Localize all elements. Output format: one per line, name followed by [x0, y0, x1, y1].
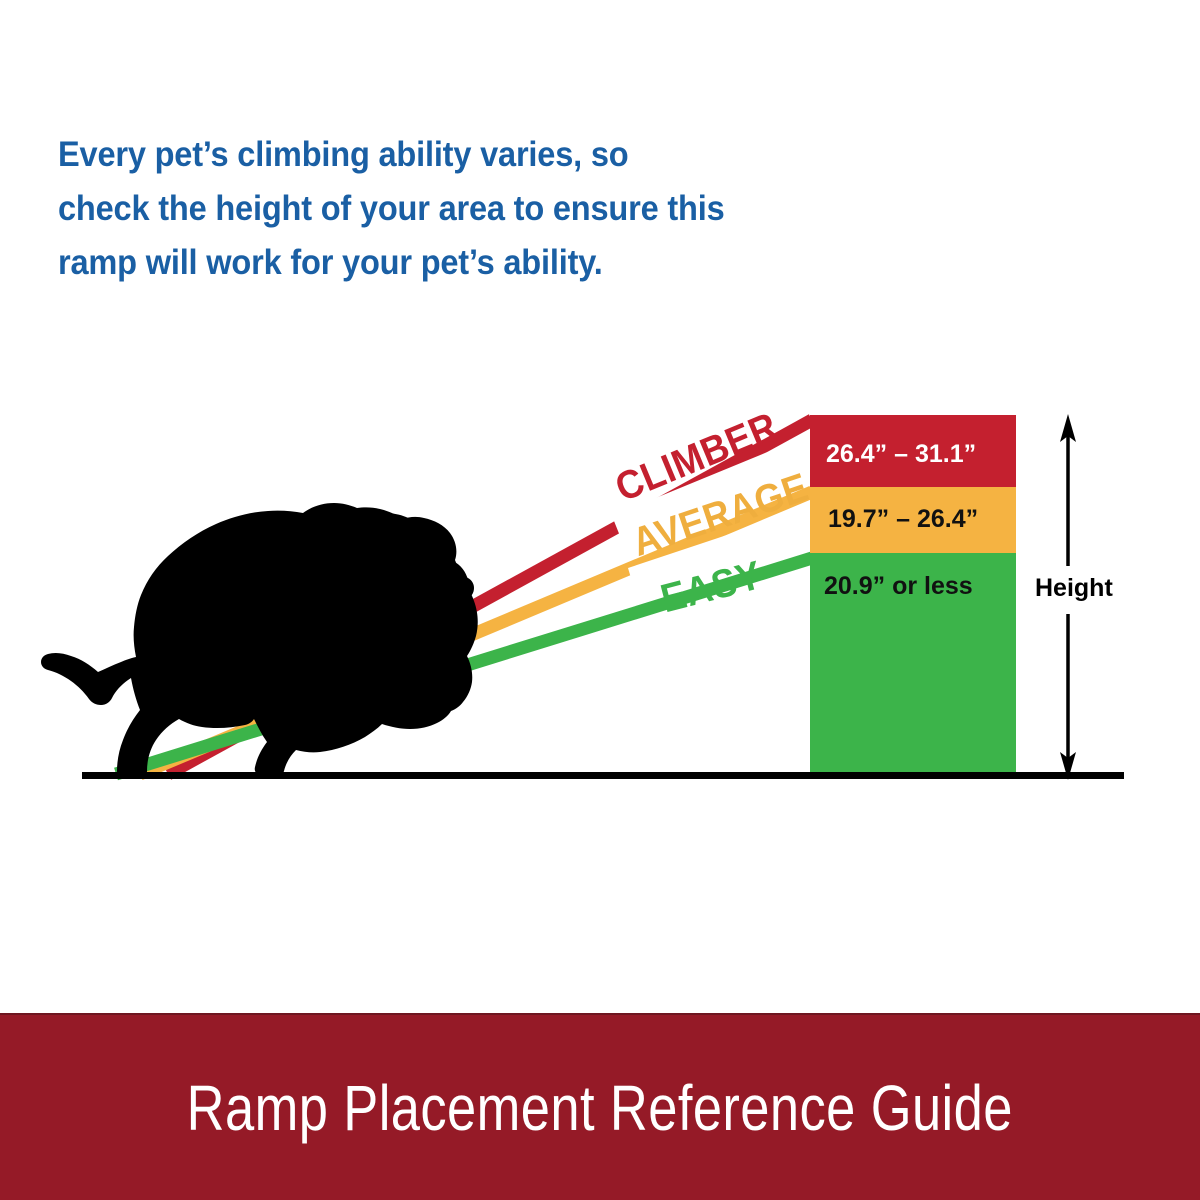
ramp-diagram: [0, 0, 1200, 1010]
bar-label-easy: 20.9” or less: [824, 572, 973, 601]
bottom-banner: Ramp Placement Reference Guide: [0, 1013, 1200, 1200]
dog-silhouette: [41, 503, 478, 778]
banner-title: Ramp Placement Reference Guide: [187, 1071, 1013, 1145]
bar-label-average: 19.7” – 26.4”: [828, 505, 978, 534]
infographic-stage: Every pet’s climbing ability varies, so …: [0, 0, 1200, 1200]
ground-line: [82, 772, 1124, 779]
bar-label-climber: 26.4” – 31.1”: [826, 440, 976, 469]
height-label: Height: [1035, 574, 1113, 603]
